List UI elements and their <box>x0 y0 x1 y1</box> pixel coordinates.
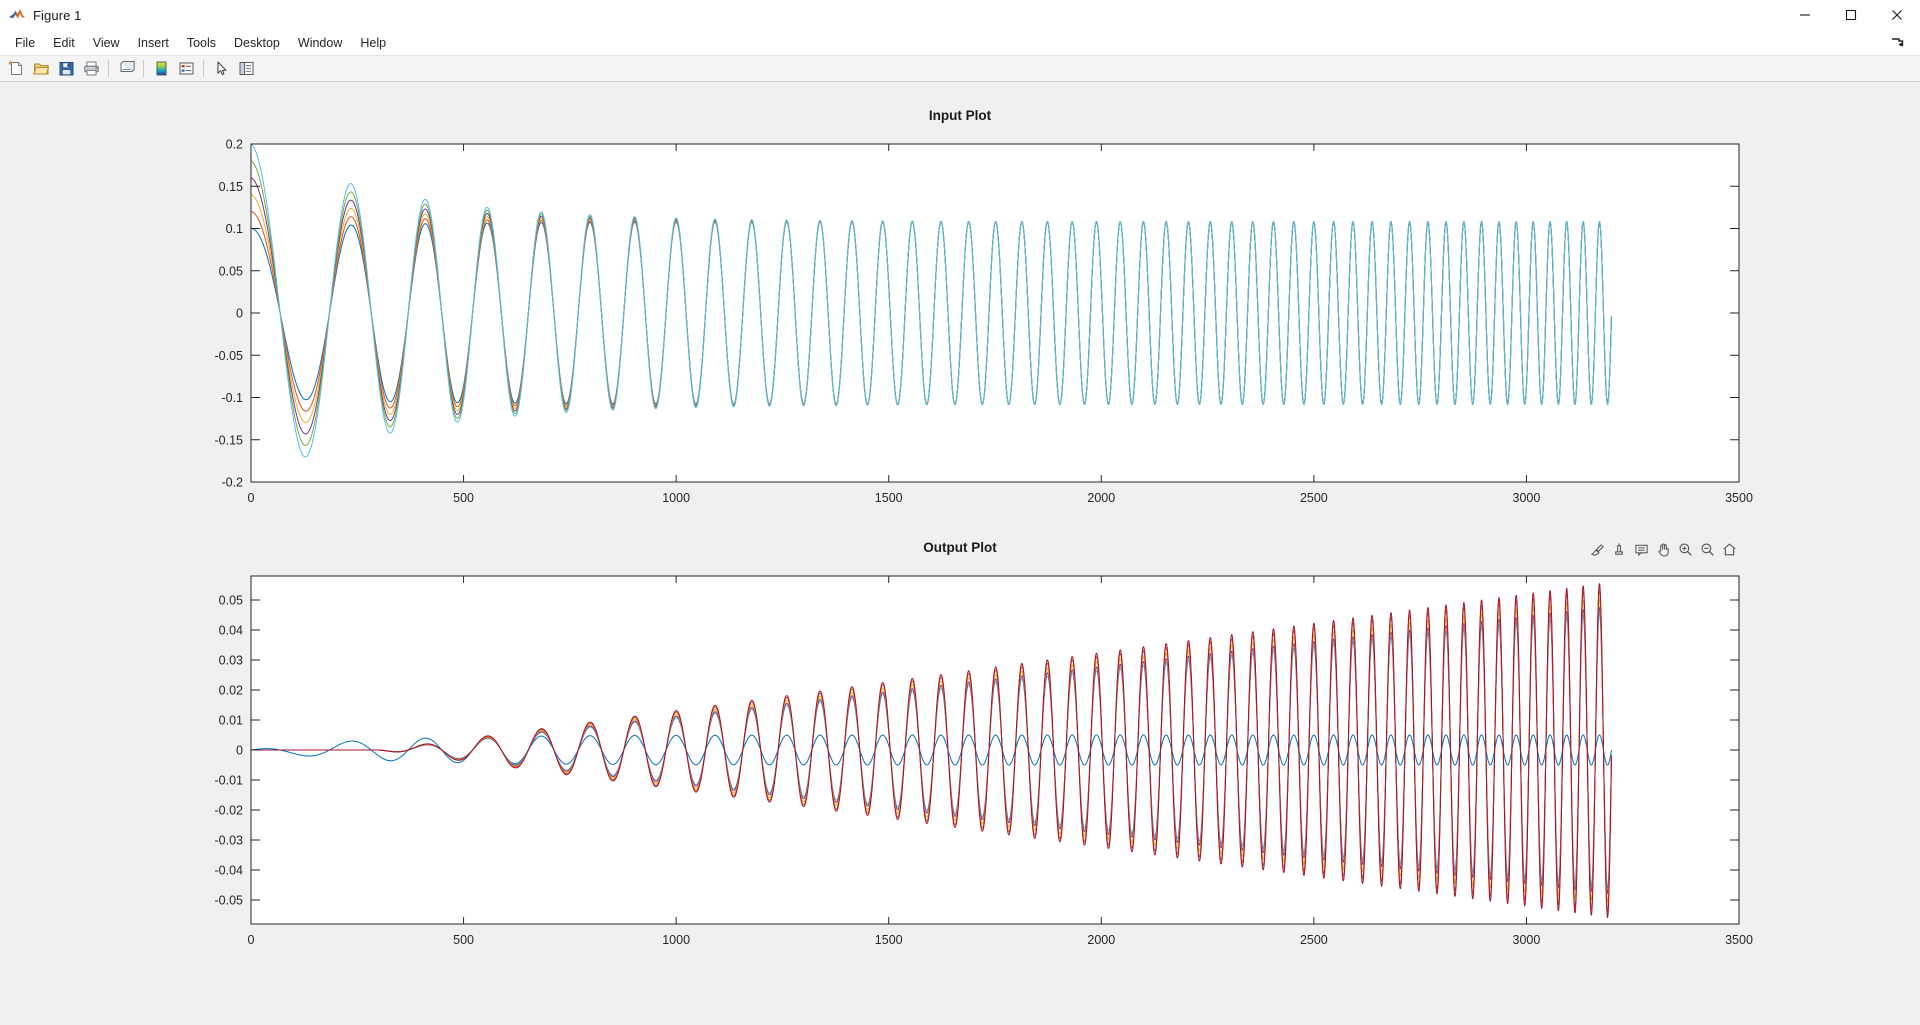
pan-hand-icon[interactable] <box>1654 540 1672 558</box>
window-title: Figure 1 <box>33 8 82 23</box>
close-button[interactable] <box>1874 0 1920 30</box>
svg-text:2000: 2000 <box>1087 491 1115 502</box>
input-plot-title: Input Plot <box>0 108 1920 123</box>
show-plot-tools-button[interactable] <box>234 58 258 80</box>
svg-text:-0.01: -0.01 <box>215 774 244 788</box>
svg-text:2500: 2500 <box>1300 933 1328 947</box>
svg-text:0: 0 <box>236 307 243 321</box>
svg-text:500: 500 <box>453 933 474 947</box>
svg-text:3000: 3000 <box>1513 491 1541 502</box>
svg-text:0.05: 0.05 <box>219 594 243 608</box>
new-figure-button[interactable] <box>4 58 28 80</box>
svg-text:0.1: 0.1 <box>226 222 243 236</box>
maximize-button[interactable] <box>1828 0 1874 30</box>
save-figure-button[interactable] <box>54 58 78 80</box>
svg-text:3500: 3500 <box>1725 933 1753 947</box>
toolbar-separator <box>203 60 204 77</box>
input-plot-svg[interactable]: 0500100015002000250030003500-0.2-0.15-0.… <box>0 82 1920 502</box>
svg-text:0.05: 0.05 <box>219 264 243 278</box>
svg-text:-0.04: -0.04 <box>215 864 244 878</box>
svg-text:0: 0 <box>248 933 255 947</box>
figure-canvas: Input Plot 0500100015002000250030003500-… <box>0 82 1920 1025</box>
svg-text:1000: 1000 <box>662 491 690 502</box>
svg-text:500: 500 <box>453 491 474 502</box>
svg-text:1500: 1500 <box>875 933 903 947</box>
home-icon[interactable] <box>1720 540 1738 558</box>
svg-text:0.04: 0.04 <box>219 624 243 638</box>
menu-desktop[interactable]: Desktop <box>225 33 289 53</box>
print-preview-button[interactable] <box>114 58 138 80</box>
svg-text:-0.1: -0.1 <box>221 391 243 405</box>
svg-text:2000: 2000 <box>1087 933 1115 947</box>
menu-tools[interactable]: Tools <box>178 33 225 53</box>
input-axes: Input Plot 0500100015002000250030003500-… <box>0 82 1920 502</box>
svg-text:3500: 3500 <box>1725 491 1753 502</box>
toolbar-separator <box>108 60 109 77</box>
svg-text:0.01: 0.01 <box>219 714 243 728</box>
menu-window[interactable]: Window <box>289 33 351 53</box>
menu-edit[interactable]: Edit <box>44 33 84 53</box>
svg-text:1000: 1000 <box>662 933 690 947</box>
svg-text:3000: 3000 <box>1513 933 1541 947</box>
zoom-in-icon[interactable] <box>1676 540 1694 558</box>
menu-insert[interactable]: Insert <box>129 33 178 53</box>
minimize-button[interactable] <box>1782 0 1828 30</box>
menu-view[interactable]: View <box>84 33 129 53</box>
open-file-button[interactable] <box>29 58 53 80</box>
svg-text:0.02: 0.02 <box>219 684 243 698</box>
svg-text:0.15: 0.15 <box>219 180 243 194</box>
svg-text:-0.15: -0.15 <box>215 433 244 447</box>
svg-text:1500: 1500 <box>875 491 903 502</box>
svg-text:0: 0 <box>236 744 243 758</box>
axes-toolbar <box>1588 540 1738 558</box>
window-titlebar: Figure 1 <box>0 0 1920 30</box>
data-brush-icon[interactable] <box>1610 540 1628 558</box>
output-plot-svg[interactable]: 0500100015002000250030003500-0.05-0.04-0… <box>0 502 1920 1002</box>
svg-text:-0.2: -0.2 <box>221 476 243 490</box>
edit-plot-button[interactable] <box>209 58 233 80</box>
svg-text:-0.02: -0.02 <box>215 804 244 818</box>
export-icon[interactable] <box>1588 540 1606 558</box>
svg-text:2500: 2500 <box>1300 491 1328 502</box>
menu-file[interactable]: File <box>6 33 44 53</box>
data-tip-icon[interactable] <box>1632 540 1650 558</box>
zoom-out-icon[interactable] <box>1698 540 1716 558</box>
insert-colorbar-button[interactable] <box>149 58 173 80</box>
print-figure-button[interactable] <box>79 58 103 80</box>
matlab-figure-icon <box>8 6 26 24</box>
menu-help[interactable]: Help <box>351 33 395 53</box>
svg-text:0.03: 0.03 <box>219 654 243 668</box>
undock-arrow-icon[interactable] <box>1890 35 1906 51</box>
toolbar-separator <box>143 60 144 77</box>
svg-text:-0.05: -0.05 <box>215 349 244 363</box>
output-axes: Output Plot <box>0 502 1920 1002</box>
svg-text:-0.03: -0.03 <box>215 834 244 848</box>
svg-text:0.2: 0.2 <box>226 138 243 152</box>
figure-toolbar <box>0 55 1920 82</box>
svg-text:-0.05: -0.05 <box>215 894 244 908</box>
svg-text:0: 0 <box>248 491 255 502</box>
insert-legend-button[interactable] <box>174 58 198 80</box>
window-controls <box>1782 0 1920 30</box>
menubar: File Edit View Insert Tools Desktop Wind… <box>0 30 1920 55</box>
